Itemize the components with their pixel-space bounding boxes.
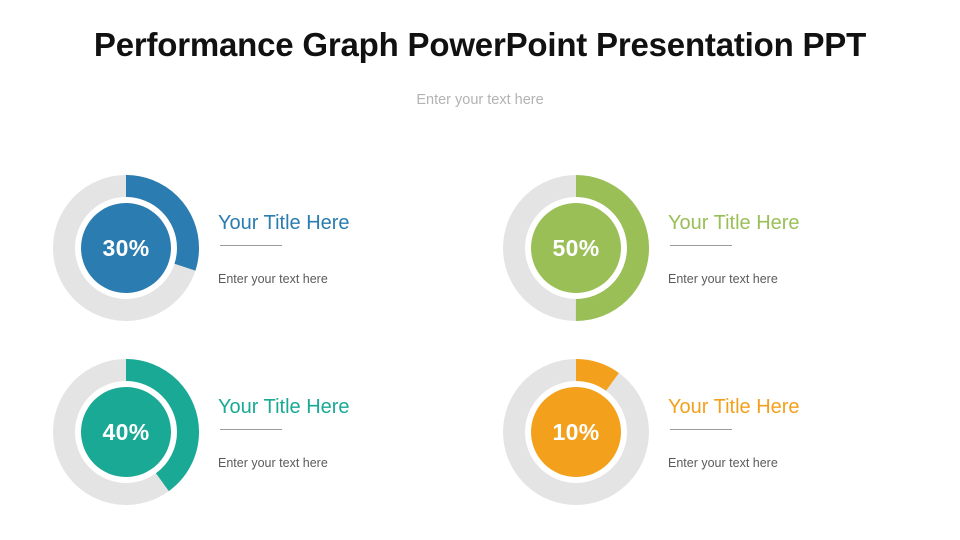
gauge-text-1: Your Title Here Enter your text here xyxy=(218,210,350,286)
gauge-item-1[interactable]: 30% Your Title Here Enter your text here xyxy=(52,168,472,328)
gauge-text-4: Your Title Here Enter your text here xyxy=(668,394,800,470)
gauge-description-2: Enter your text here xyxy=(668,272,800,286)
gauge-item-4[interactable]: 10% Your Title Here Enter your text here xyxy=(502,352,922,512)
gauge-title-1: Your Title Here xyxy=(218,212,350,236)
gauge-description-1: Enter your text here xyxy=(218,272,350,286)
donut-chart-2: 50% xyxy=(502,174,650,322)
page-title: Performance Graph PowerPoint Presentatio… xyxy=(0,26,960,64)
gauge-item-3[interactable]: 40% Your Title Here Enter your text here xyxy=(52,352,472,512)
donut-svg-4 xyxy=(502,358,650,506)
gauge-text-3: Your Title Here Enter your text here xyxy=(218,394,350,470)
gauge-title-3: Your Title Here xyxy=(218,396,350,420)
gauge-title-4: Your Title Here xyxy=(668,396,800,420)
gauge-text-2: Your Title Here Enter your text here xyxy=(668,210,800,286)
donut-chart-4: 10% xyxy=(502,358,650,506)
donut-chart-3: 40% xyxy=(52,358,200,506)
gauge-title-2: Your Title Here xyxy=(668,212,800,236)
donut-chart-1: 30% xyxy=(52,174,200,322)
gauge-title-rule-1 xyxy=(220,245,282,246)
donut-svg-1 xyxy=(52,174,200,322)
gauge-title-rule-4 xyxy=(670,429,732,430)
page-subtitle: Enter your text here xyxy=(0,92,960,108)
slide-canvas: Performance Graph PowerPoint Presentatio… xyxy=(0,0,960,540)
donut-svg-2 xyxy=(502,174,650,322)
donut-core-2 xyxy=(531,203,621,293)
gauge-description-4: Enter your text here xyxy=(668,456,800,470)
donut-core-1 xyxy=(81,203,171,293)
gauge-title-rule-3 xyxy=(220,429,282,430)
gauge-item-2[interactable]: 50% Your Title Here Enter your text here xyxy=(502,168,922,328)
donut-core-3 xyxy=(81,387,171,477)
gauge-title-rule-2 xyxy=(670,245,732,246)
gauge-description-3: Enter your text here xyxy=(218,456,350,470)
donut-svg-3 xyxy=(52,358,200,506)
gauge-grid: 30% Your Title Here Enter your text here… xyxy=(0,160,960,500)
donut-core-4 xyxy=(531,387,621,477)
